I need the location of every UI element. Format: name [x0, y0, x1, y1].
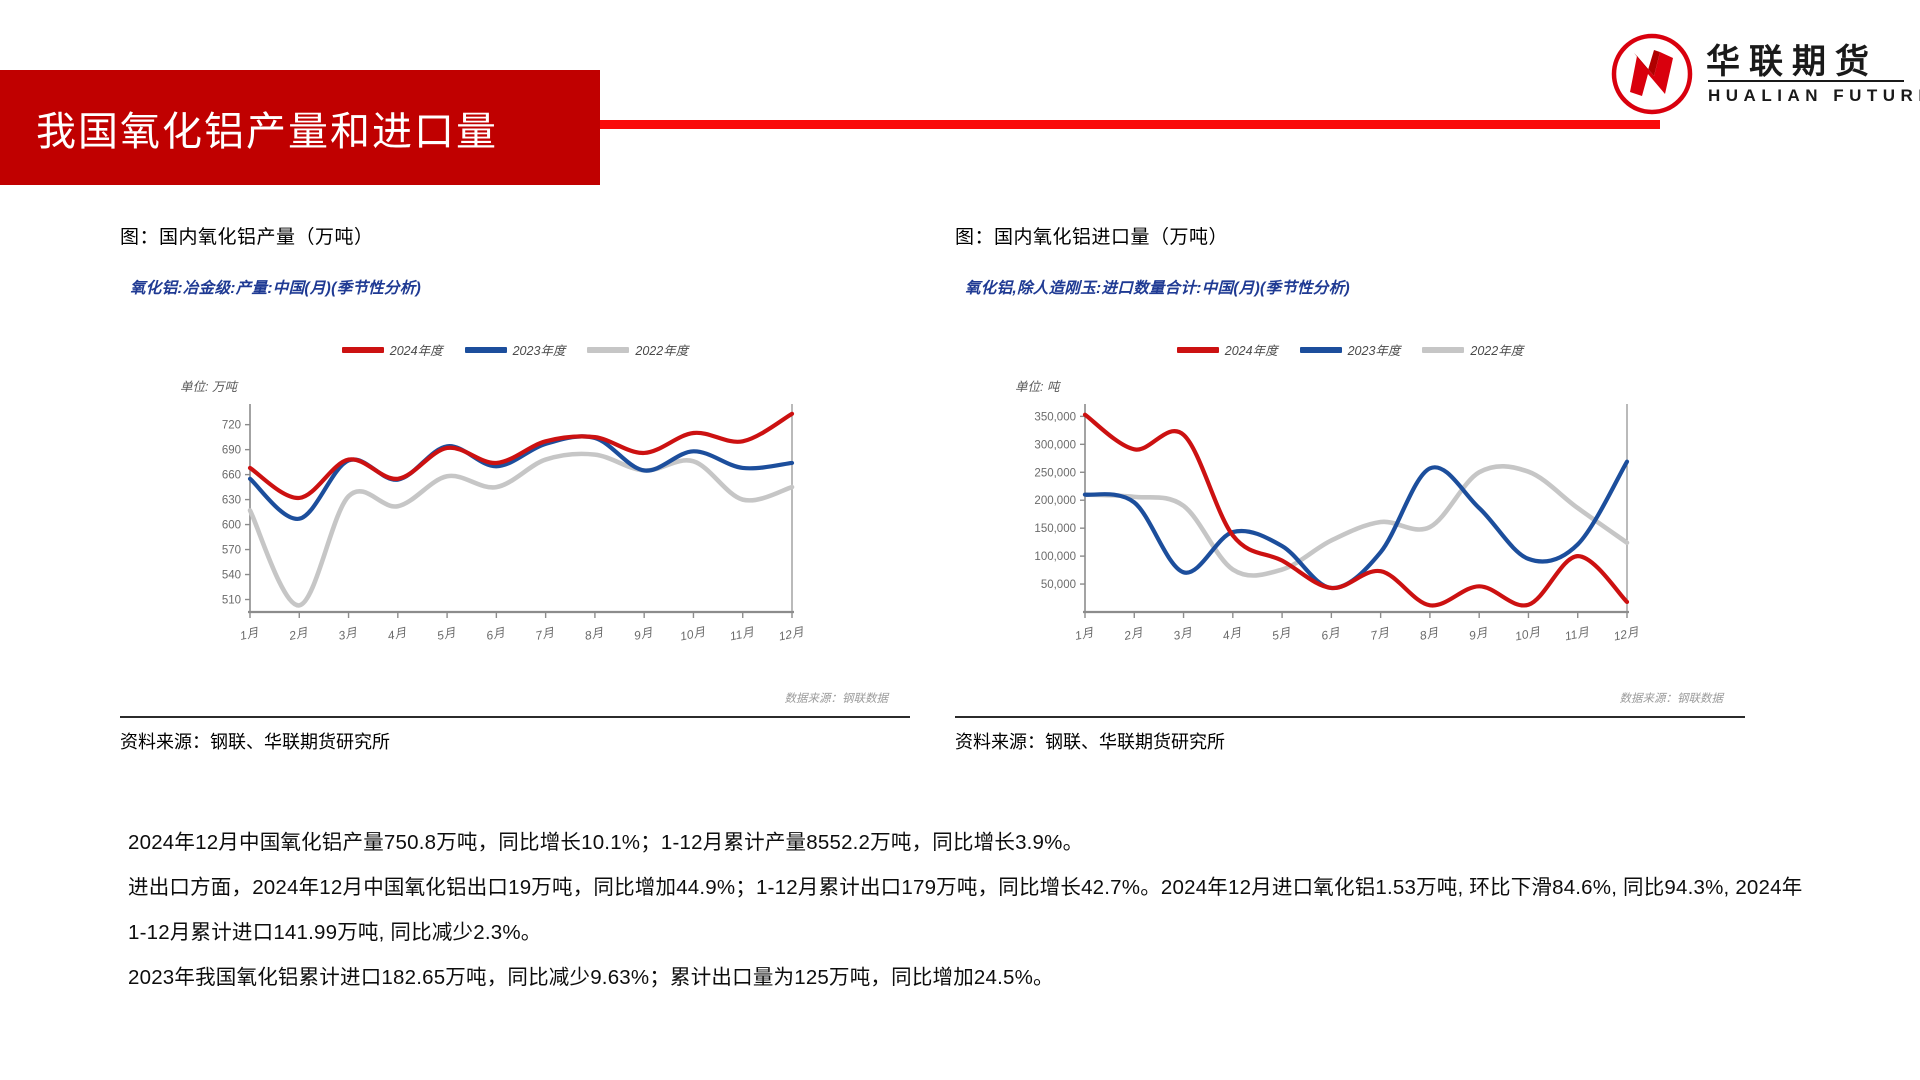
chart-data-source: 数据来源：钢联数据: [1620, 690, 1724, 706]
logo-english-name: HUALIAN FUTURES: [1708, 86, 1920, 106]
legend-item-2023: 2023年度: [1300, 340, 1401, 359]
svg-text:3月: 3月: [1172, 625, 1194, 643]
svg-text:150,000: 150,000: [1034, 523, 1076, 535]
legend-swatch-2024: [342, 347, 384, 353]
panel-bottom-rule: [955, 716, 1745, 719]
svg-text:9月: 9月: [633, 625, 655, 643]
svg-text:570: 570: [222, 545, 241, 557]
hualian-n-logo-icon: [1610, 32, 1694, 116]
legend-item-2022: 2022年度: [1422, 340, 1523, 359]
chart-plot-area: 5105405706006306606907201月2月3月4月5月6月7月8月…: [176, 400, 816, 660]
svg-text:8月: 8月: [1418, 625, 1440, 643]
svg-text:4月: 4月: [386, 625, 408, 643]
panel-bottom-rule: [120, 716, 910, 719]
svg-text:540: 540: [222, 570, 241, 582]
chart-subtitle: 氧化铝,除人造刚玉:进口数量合计:中国(月)(季节性分析): [965, 276, 1350, 298]
page-header: 我国氧化铝产量和进口量 华联期货 HUALIAN FUTURES: [0, 0, 1920, 180]
svg-text:12月: 12月: [777, 624, 806, 643]
svg-text:660: 660: [222, 470, 241, 482]
legend-label-2024: 2024年度: [1225, 340, 1278, 359]
svg-text:200,000: 200,000: [1034, 495, 1076, 507]
chart-legend: 2024年度 2023年度 2022年度: [120, 340, 910, 359]
page-title: 我国氧化铝产量和进口量: [0, 99, 498, 157]
legend-item-2024: 2024年度: [1177, 340, 1278, 359]
legend-label-2023: 2023年度: [513, 340, 566, 359]
chart-unit-label: 单位: 万吨: [180, 376, 237, 395]
chart-panel-production: 图：国内氧化铝产量（万吨） 氧化铝:冶金级:产量:中国(月)(季节性分析) 20…: [120, 222, 910, 762]
svg-text:300,000: 300,000: [1034, 439, 1076, 451]
logo-divider: [1708, 80, 1904, 82]
panel-source-text: 资料来源：钢联、华联期货研究所: [120, 728, 390, 754]
panel-title: 图：国内氧化铝产量（万吨）: [120, 222, 910, 258]
chart-panel-imports: 图：国内氧化铝进口量（万吨） 氧化铝,除人造刚玉:进口数量合计:中国(月)(季节…: [955, 222, 1745, 762]
svg-text:50,000: 50,000: [1041, 579, 1076, 591]
svg-text:600: 600: [222, 520, 241, 532]
summary-paragraph-1: 2024年12月中国氧化铝产量750.8万吨，同比增长10.1%；1-12月累计…: [128, 820, 1808, 865]
svg-text:5月: 5月: [1271, 625, 1293, 643]
svg-text:1月: 1月: [1074, 625, 1096, 643]
svg-text:7月: 7月: [1369, 625, 1391, 643]
svg-text:510: 510: [222, 595, 241, 607]
chart-card: 氧化铝:冶金级:产量:中国(月)(季节性分析) 2024年度 2023年度 20…: [120, 258, 910, 710]
chart-plot-area: 50,000100,000150,000200,000250,000300,00…: [1011, 400, 1651, 660]
svg-text:5月: 5月: [436, 625, 458, 643]
legend-item-2022: 2022年度: [587, 340, 688, 359]
svg-text:3月: 3月: [337, 625, 359, 643]
chart-subtitle: 氧化铝:冶金级:产量:中国(月)(季节性分析): [130, 276, 421, 298]
legend-label-2022: 2022年度: [1470, 340, 1523, 359]
svg-text:720: 720: [222, 420, 241, 432]
legend-label-2023: 2023年度: [1348, 340, 1401, 359]
legend-swatch-2023: [465, 347, 507, 353]
svg-text:6月: 6月: [1320, 625, 1342, 643]
svg-text:2月: 2月: [287, 625, 310, 643]
legend-label-2024: 2024年度: [390, 340, 443, 359]
svg-text:10月: 10月: [679, 624, 708, 643]
legend-label-2022: 2022年度: [635, 340, 688, 359]
panel-source-text: 资料来源：钢联、华联期货研究所: [955, 728, 1225, 754]
legend-swatch-2022: [1422, 347, 1464, 353]
svg-text:4月: 4月: [1221, 625, 1243, 643]
svg-text:11月: 11月: [728, 624, 756, 643]
chart-legend: 2024年度 2023年度 2022年度: [955, 340, 1745, 359]
svg-text:10月: 10月: [1514, 624, 1543, 643]
company-logo: 华联期货 HUALIAN FUTURES: [1610, 30, 1900, 120]
header-rule: [600, 120, 1660, 129]
logo-chinese-name: 华联期货: [1706, 34, 1878, 83]
svg-text:12月: 12月: [1612, 624, 1641, 643]
chart-data-source: 数据来源：钢联数据: [785, 690, 889, 706]
legend-item-2024: 2024年度: [342, 340, 443, 359]
chart-card: 氧化铝,除人造刚玉:进口数量合计:中国(月)(季节性分析) 2024年度 202…: [955, 258, 1745, 710]
summary-paragraph-2: 进出口方面，2024年12月中国氧化铝出口19万吨，同比增加44.9%；1-12…: [128, 865, 1808, 955]
svg-text:9月: 9月: [1468, 625, 1490, 643]
panel-title: 图：国内氧化铝进口量（万吨）: [955, 222, 1745, 258]
svg-text:100,000: 100,000: [1034, 551, 1076, 563]
legend-swatch-2024: [1177, 347, 1219, 353]
legend-item-2023: 2023年度: [465, 340, 566, 359]
svg-text:7月: 7月: [534, 625, 556, 643]
svg-text:6月: 6月: [485, 625, 507, 643]
legend-swatch-2023: [1300, 347, 1342, 353]
chart-unit-label: 单位: 吨: [1015, 376, 1059, 395]
summary-paragraph-3: 2023年我国氧化铝累计进口182.65万吨，同比减少9.63%；累计出口量为1…: [128, 955, 1808, 1000]
legend-swatch-2022: [587, 347, 629, 353]
summary-text: 2024年12月中国氧化铝产量750.8万吨，同比增长10.1%；1-12月累计…: [128, 820, 1808, 1000]
svg-text:630: 630: [222, 495, 241, 507]
svg-text:11月: 11月: [1563, 624, 1591, 643]
svg-text:2月: 2月: [1122, 625, 1145, 643]
svg-text:350,000: 350,000: [1034, 411, 1076, 423]
svg-text:250,000: 250,000: [1034, 467, 1076, 479]
svg-text:8月: 8月: [583, 625, 605, 643]
svg-text:690: 690: [222, 445, 241, 457]
svg-text:1月: 1月: [239, 625, 261, 643]
title-banner: 我国氧化铝产量和进口量: [0, 70, 600, 185]
